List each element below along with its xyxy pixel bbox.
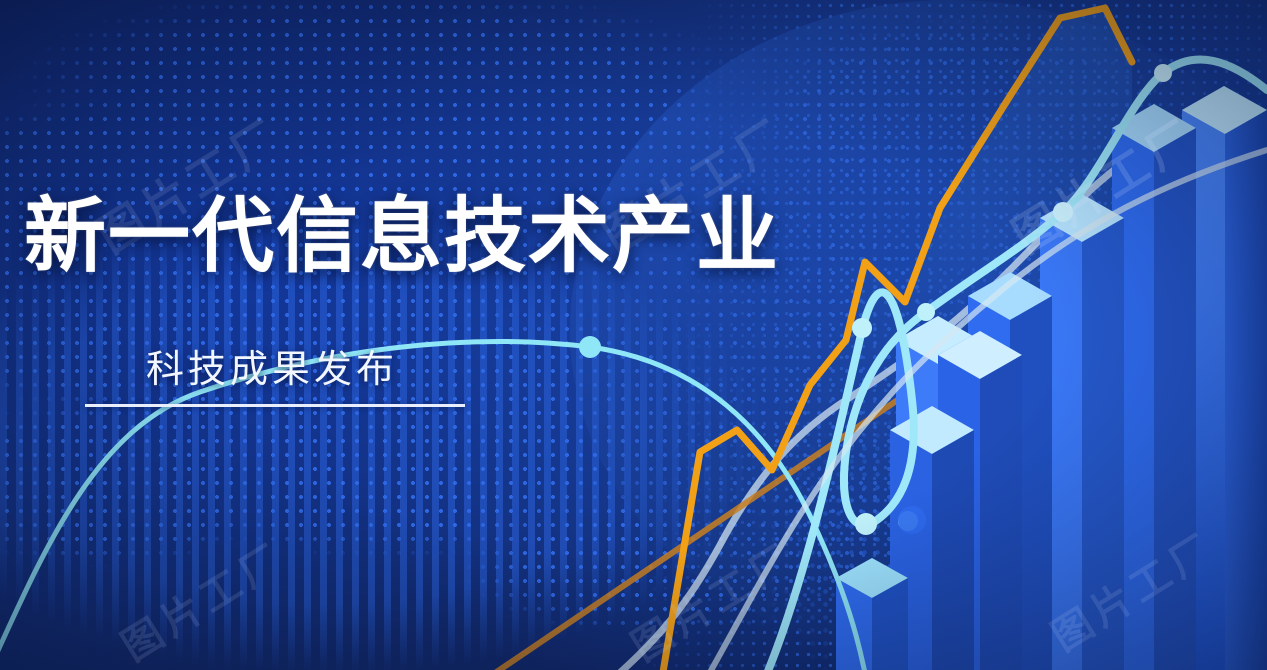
vignette-overlay: [0, 0, 1267, 670]
page-title: 新一代信息技术产业: [24, 196, 780, 278]
poster-canvas: 图片工厂 图片工厂 图片工厂 图片工厂 图片工厂 图片工厂 新一代信息技术产业 …: [0, 0, 1267, 670]
title-divider: [85, 404, 465, 407]
page-subtitle: 科技成果发布: [146, 350, 398, 388]
